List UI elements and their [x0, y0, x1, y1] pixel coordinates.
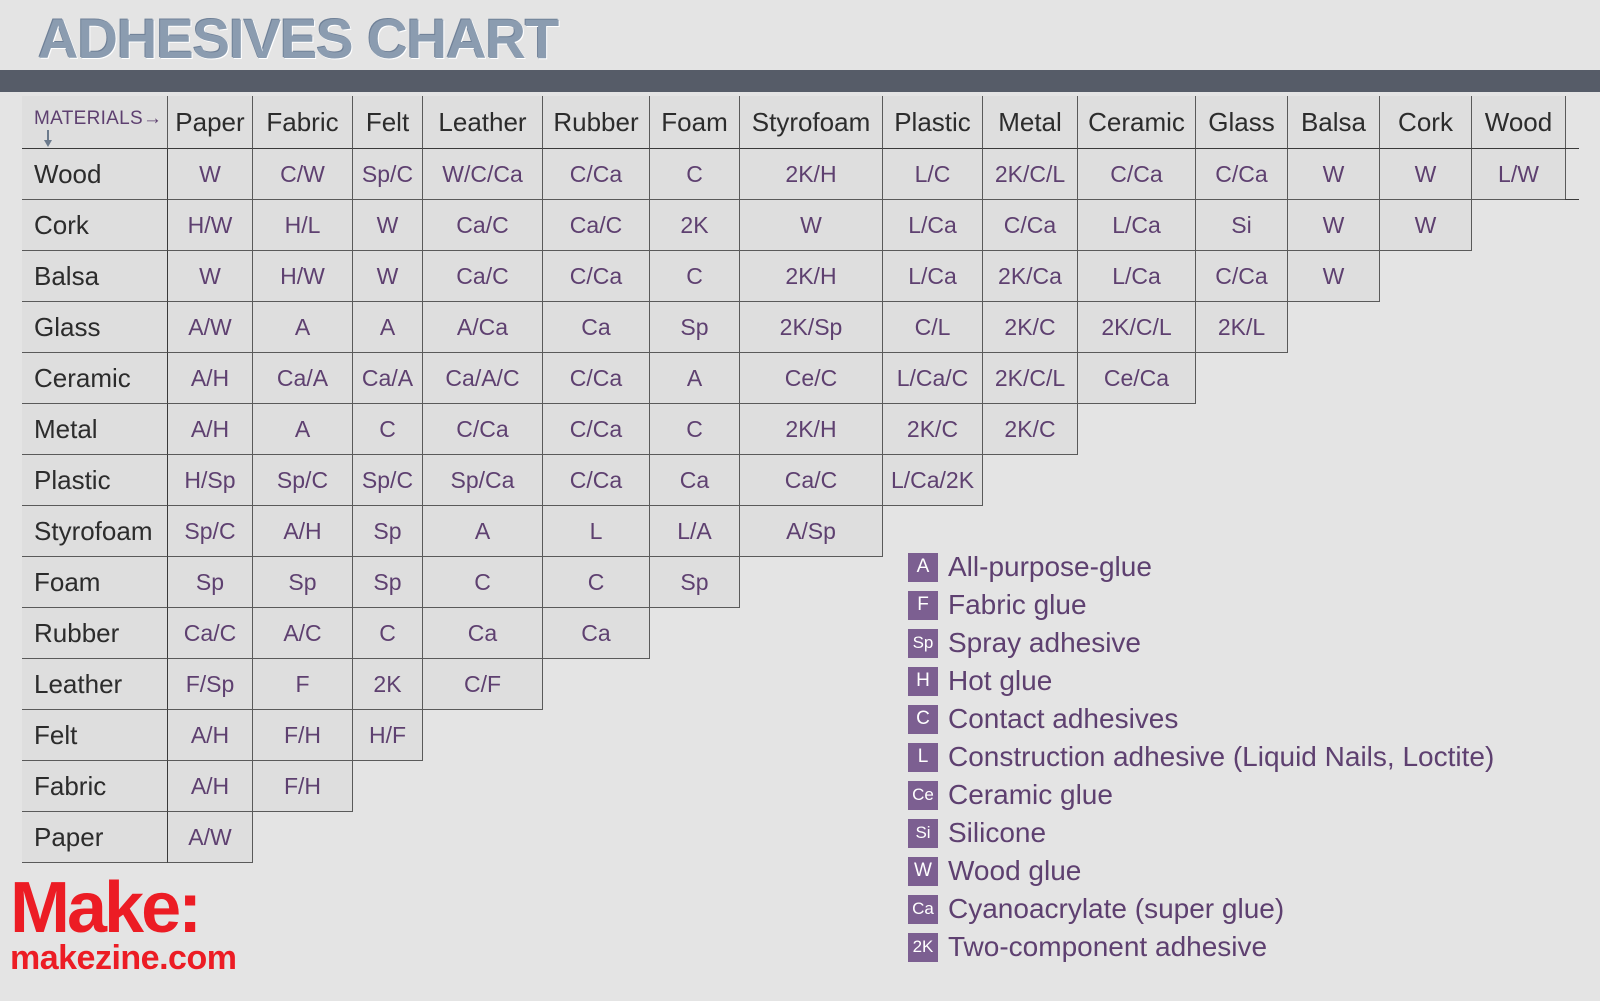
matrix-cell-empty [1288, 455, 1380, 506]
legend-item: SiSilicone [908, 814, 1494, 852]
matrix-cell-empty [650, 761, 740, 812]
matrix-cell: W [168, 149, 253, 200]
matrix-cell: C/Ca [1196, 149, 1288, 200]
legend-label: Spray adhesive [948, 627, 1141, 659]
legend-item: CaCyanoacrylate (super glue) [908, 890, 1494, 928]
matrix-cell: Ca/A/C [423, 353, 543, 404]
legend-code-badge: Sp [908, 629, 938, 658]
row-header-rubber: Rubber [22, 608, 168, 659]
legend-label: Contact adhesives [948, 703, 1178, 735]
legend-item: CContact adhesives [908, 700, 1494, 738]
matrix-cell-empty [1472, 455, 1566, 506]
matrix-cell: Ca [650, 455, 740, 506]
matrix-cell-empty [1380, 455, 1472, 506]
matrix-cell: L/Ca [883, 200, 983, 251]
table-row: CeramicA/HCa/ACa/ACa/A/CC/CaACe/CL/Ca/C2… [22, 353, 1566, 404]
matrix-cell: Ca [423, 608, 543, 659]
materials-corner-cell: MATERIALS→ [22, 96, 168, 149]
legend-label: Silicone [948, 817, 1046, 849]
matrix-cell: 2K/H [740, 251, 883, 302]
matrix-cell: Si [1196, 200, 1288, 251]
matrix-cell: Sp [253, 557, 353, 608]
matrix-cell-empty [650, 608, 740, 659]
table-row: BalsaWH/WWCa/CC/CaC2K/HL/Ca2K/CaL/CaC/Ca… [22, 251, 1566, 302]
matrix-cell: Sp/C [353, 149, 423, 200]
matrix-cell: Sp/Ca [423, 455, 543, 506]
matrix-cell: 2K/C/L [1078, 302, 1196, 353]
table-row: MetalA/HACC/CaC/CaC2K/H2K/C2K/C [22, 404, 1566, 455]
matrix-cell: Ca/C [423, 200, 543, 251]
matrix-cell: L/A [650, 506, 740, 557]
matrix-cell: C/Ca [543, 149, 650, 200]
legend-label: Cyanoacrylate (super glue) [948, 893, 1284, 925]
matrix-cell: 2K/Ca [983, 251, 1078, 302]
matrix-cell: 2K/H [740, 149, 883, 200]
matrix-cell-empty [423, 761, 543, 812]
matrix-cell: A/W [168, 812, 253, 863]
matrix-cell: A [353, 302, 423, 353]
matrix-cell-empty [353, 812, 423, 863]
table-row: GlassA/WAAA/CaCaSp2K/SpC/L2K/C2K/C/L2K/L [22, 302, 1566, 353]
matrix-cell: C/Ca [423, 404, 543, 455]
row-header-felt: Felt [22, 710, 168, 761]
matrix-cell: Sp [353, 557, 423, 608]
column-header-leather: Leather [423, 96, 543, 149]
matrix-cell: Sp/C [168, 506, 253, 557]
matrix-cell: 2K/L [1196, 302, 1288, 353]
matrix-cell: C [543, 557, 650, 608]
matrix-cell: C/Ca [543, 353, 650, 404]
matrix-cell: A/H [168, 710, 253, 761]
legend-code-badge: A [908, 553, 938, 582]
legend-code-badge: Si [908, 819, 938, 848]
row-header-fabric: Fabric [22, 761, 168, 812]
matrix-cell-empty [740, 608, 883, 659]
table-header-row: MATERIALS→PaperFabricFeltLeatherRubberFo… [22, 96, 1566, 149]
legend-item: WWood glue [908, 852, 1494, 890]
legend-item: LConstruction adhesive (Liquid Nails, Lo… [908, 738, 1494, 776]
matrix-cell-empty [740, 659, 883, 710]
matrix-cell: Sp/C [353, 455, 423, 506]
matrix-cell-empty [1380, 353, 1472, 404]
matrix-cell: H/Sp [168, 455, 253, 506]
matrix-cell: Sp [650, 302, 740, 353]
matrix-cell: H/W [253, 251, 353, 302]
matrix-cell-empty [1196, 404, 1288, 455]
matrix-cell: A [423, 506, 543, 557]
matrix-cell: Ca/C [543, 200, 650, 251]
legend-label: Wood glue [948, 855, 1081, 887]
matrix-cell: L/Ca [1078, 251, 1196, 302]
matrix-cell-empty [740, 557, 883, 608]
matrix-cell: 2K/Sp [740, 302, 883, 353]
matrix-cell: A/W [168, 302, 253, 353]
matrix-cell-empty [543, 710, 650, 761]
matrix-cell: W [1288, 251, 1380, 302]
column-header-glass: Glass [1196, 96, 1288, 149]
matrix-cell: L/Ca [1078, 200, 1196, 251]
matrix-cell: A [253, 404, 353, 455]
column-header-fabric: Fabric [253, 96, 353, 149]
legend-label: Fabric glue [948, 589, 1087, 621]
row-header-plastic: Plastic [22, 455, 168, 506]
matrix-cell: L/C [883, 149, 983, 200]
matrix-cell: W [353, 200, 423, 251]
matrix-cell-empty [1472, 302, 1566, 353]
matrix-cell: W [168, 251, 253, 302]
legend-code-badge: Ca [908, 895, 938, 924]
column-header-foam: Foam [650, 96, 740, 149]
matrix-cell-empty [740, 710, 883, 761]
matrix-cell: A [253, 302, 353, 353]
matrix-cell: 2K/C [983, 302, 1078, 353]
matrix-cell-empty [1078, 455, 1196, 506]
row-edge-tick [1565, 148, 1579, 149]
matrix-cell: C/F [423, 659, 543, 710]
column-header-paper: Paper [168, 96, 253, 149]
legend-label: Construction adhesive (Liquid Nails, Loc… [948, 741, 1494, 773]
matrix-cell: A/H [253, 506, 353, 557]
matrix-cell: C [423, 557, 543, 608]
matrix-cell: W [353, 251, 423, 302]
matrix-cell-empty [543, 659, 650, 710]
table-row: WoodWC/WSp/CW/C/CaC/CaC2K/HL/C2K/C/LC/Ca… [22, 149, 1566, 200]
legend-item: CeCeramic glue [908, 776, 1494, 814]
matrix-cell: Ce/C [740, 353, 883, 404]
make-url: makezine.com [10, 940, 236, 976]
row-header-paper: Paper [22, 812, 168, 863]
legend-item: AAll-purpose-glue [908, 548, 1494, 586]
matrix-cell-empty [353, 761, 423, 812]
matrix-cell: C/Ca [543, 251, 650, 302]
matrix-cell: 2K [650, 200, 740, 251]
matrix-cell-empty [1380, 251, 1472, 302]
matrix-cell: H/F [353, 710, 423, 761]
matrix-cell: C [650, 251, 740, 302]
row-header-leather: Leather [22, 659, 168, 710]
matrix-cell-empty [650, 710, 740, 761]
matrix-cell: Ca/C [423, 251, 543, 302]
matrix-cell: Sp [650, 557, 740, 608]
legend-item: 2KTwo-component adhesive [908, 928, 1494, 966]
matrix-cell: Ca/A [253, 353, 353, 404]
legend-label: Hot glue [948, 665, 1052, 697]
column-header-ceramic: Ceramic [1078, 96, 1196, 149]
matrix-cell: W/C/Ca [423, 149, 543, 200]
matrix-cell: Sp [168, 557, 253, 608]
matrix-cell: L/Ca/C [883, 353, 983, 404]
legend-item: SpSpray adhesive [908, 624, 1494, 662]
matrix-cell: A/H [168, 761, 253, 812]
matrix-cell-empty [1380, 404, 1472, 455]
matrix-cell: Ce/Ca [1078, 353, 1196, 404]
matrix-cell-empty [543, 812, 650, 863]
matrix-cell-empty [1472, 200, 1566, 251]
matrix-cell: C/Ca [1196, 251, 1288, 302]
matrix-cell: Ca/C [168, 608, 253, 659]
matrix-cell: Sp/C [253, 455, 353, 506]
table-row: PlasticH/SpSp/CSp/CSp/CaC/CaCaCa/CL/Ca/2… [22, 455, 1566, 506]
matrix-cell: L/W [1472, 149, 1566, 200]
matrix-cell: W [1380, 200, 1472, 251]
legend-code-badge: Ce [908, 781, 938, 810]
matrix-cell: C/W [253, 149, 353, 200]
matrix-cell-empty [740, 761, 883, 812]
matrix-cell: L [543, 506, 650, 557]
matrix-cell-empty [983, 455, 1078, 506]
matrix-cell: C/Ca [543, 455, 650, 506]
row-header-balsa: Balsa [22, 251, 168, 302]
matrix-cell: F/H [253, 761, 353, 812]
legend-code-badge: W [908, 857, 938, 886]
matrix-cell: F [253, 659, 353, 710]
matrix-cell: A [650, 353, 740, 404]
matrix-cell-empty [1196, 353, 1288, 404]
matrix-cell: C/Ca [983, 200, 1078, 251]
matrix-cell-empty [1472, 251, 1566, 302]
legend-code-badge: F [908, 591, 938, 620]
matrix-cell: Ca/C [740, 455, 883, 506]
matrix-cell: A/H [168, 404, 253, 455]
matrix-cell-empty [253, 812, 353, 863]
matrix-cell: F/H [253, 710, 353, 761]
matrix-cell-empty [423, 710, 543, 761]
matrix-cell-empty [1472, 404, 1566, 455]
matrix-cell-empty [1288, 404, 1380, 455]
matrix-cell: 2K/C [983, 404, 1078, 455]
matrix-cell: L/Ca [883, 251, 983, 302]
legend-item: HHot glue [908, 662, 1494, 700]
matrix-cell: C/Ca [543, 404, 650, 455]
legend-label: Two-component adhesive [948, 931, 1267, 963]
materials-axis-label: MATERIALS→ [34, 108, 162, 130]
matrix-cell-empty [1288, 353, 1380, 404]
matrix-cell: 2K [353, 659, 423, 710]
matrix-cell: C/Ca [1078, 149, 1196, 200]
matrix-cell: H/L [253, 200, 353, 251]
matrix-cell: Ca/A [353, 353, 423, 404]
column-header-metal: Metal [983, 96, 1078, 149]
matrix-cell-empty [740, 812, 883, 863]
column-header-balsa: Balsa [1288, 96, 1380, 149]
legend-code-badge: 2K [908, 933, 938, 962]
matrix-cell: H/W [168, 200, 253, 251]
row-header-wood: Wood [22, 149, 168, 200]
matrix-cell: 2K/C/L [983, 149, 1078, 200]
matrix-cell: 2K/H [740, 404, 883, 455]
matrix-cell: A/H [168, 353, 253, 404]
row-header-cork: Cork [22, 200, 168, 251]
matrix-cell: L/Ca/2K [883, 455, 983, 506]
matrix-cell-empty [423, 812, 543, 863]
column-header-cork: Cork [1380, 96, 1472, 149]
column-header-rubber: Rubber [543, 96, 650, 149]
legend-label: All-purpose-glue [948, 551, 1152, 583]
column-header-wood: Wood [1472, 96, 1566, 149]
matrix-cell: A/C [253, 608, 353, 659]
row-header-foam: Foam [22, 557, 168, 608]
legend-code-badge: L [908, 743, 938, 772]
matrix-cell: C [353, 608, 423, 659]
make-wordmark: Make: [10, 872, 236, 944]
legend: AAll-purpose-glueFFabric glueSpSpray adh… [908, 548, 1494, 966]
title-bar: ADHESIVES CHART [0, 0, 1600, 78]
matrix-cell: C/L [883, 302, 983, 353]
legend-label: Ceramic glue [948, 779, 1113, 811]
page-title: ADHESIVES CHART [38, 8, 558, 70]
matrix-cell-empty [1472, 353, 1566, 404]
matrix-cell: W [740, 200, 883, 251]
matrix-cell: W [1288, 149, 1380, 200]
column-header-felt: Felt [353, 96, 423, 149]
row-header-glass: Glass [22, 302, 168, 353]
matrix-cell-empty [1078, 404, 1196, 455]
matrix-cell-empty [543, 761, 650, 812]
row-header-ceramic: Ceramic [22, 353, 168, 404]
matrix-cell: W [1380, 149, 1472, 200]
matrix-cell: Sp [353, 506, 423, 557]
matrix-cell: C [650, 404, 740, 455]
matrix-cell: Ca [543, 608, 650, 659]
matrix-cell-empty [1380, 302, 1472, 353]
legend-item: FFabric glue [908, 586, 1494, 624]
column-header-styrofoam: Styrofoam [740, 96, 883, 149]
matrix-cell: A/Sp [740, 506, 883, 557]
row-edge-tick [1565, 199, 1579, 200]
matrix-cell: C [650, 149, 740, 200]
matrix-cell: Ca [543, 302, 650, 353]
row-header-metal: Metal [22, 404, 168, 455]
legend-code-badge: C [908, 705, 938, 734]
matrix-cell-empty [650, 812, 740, 863]
legend-code-badge: H [908, 667, 938, 696]
matrix-cell: F/Sp [168, 659, 253, 710]
matrix-cell-empty [650, 659, 740, 710]
make-logo: Make: makezine.com [10, 872, 236, 976]
matrix-cell: C [353, 404, 423, 455]
title-divider-band [0, 70, 1600, 92]
matrix-cell-empty [1196, 455, 1288, 506]
table-row: CorkH/WH/LWCa/CCa/C2KWL/CaC/CaL/CaSiWW [22, 200, 1566, 251]
matrix-cell-empty [1288, 302, 1380, 353]
column-header-plastic: Plastic [883, 96, 983, 149]
matrix-cell: 2K/C/L [983, 353, 1078, 404]
matrix-cell: W [1288, 200, 1380, 251]
row-header-styrofoam: Styrofoam [22, 506, 168, 557]
matrix-cell: A/Ca [423, 302, 543, 353]
arrow-down-icon [42, 130, 54, 147]
matrix-cell: 2K/C [883, 404, 983, 455]
